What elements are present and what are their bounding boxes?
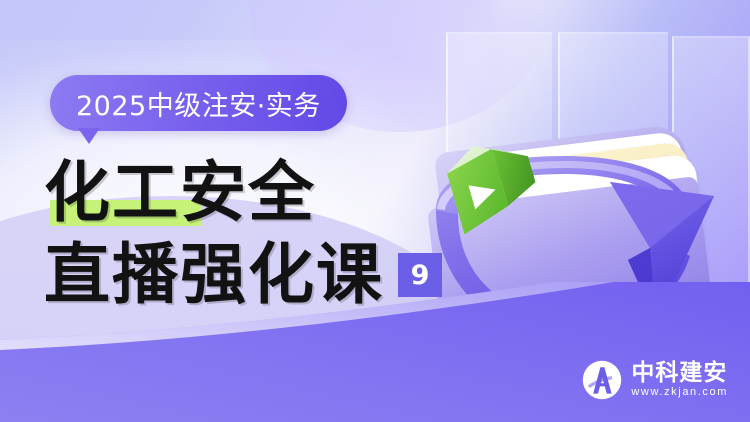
headline-line-1: 化工安全 (44, 152, 474, 234)
course-subject-label: 2025中级注安·实务 (76, 84, 321, 123)
headline-line-2: 直播强化课 (44, 234, 384, 316)
brand-logo: 中科建安 www.zkjan.com (582, 360, 728, 400)
course-banner: 2025中级注安·实务 化工安全 直播强化课 9 中科建安 www.zkjan.… (0, 0, 750, 422)
course-subject-badge: 2025中级注安·实务 (50, 75, 347, 131)
brand-url: www.zkjan.com (631, 387, 728, 398)
episode-count-badge: 9 (398, 253, 442, 297)
brand-logo-mark-icon (582, 360, 622, 400)
headline-line-2-row: 直播强化课 9 (44, 234, 474, 316)
headline-line-1-row: 化工安全 (44, 152, 474, 234)
brand-name: 中科建安 (631, 362, 728, 385)
course-subject-badge-tail (78, 128, 100, 144)
headline-block: 化工安全 直播强化课 9 (44, 152, 474, 316)
brand-logo-text: 中科建安 www.zkjan.com (631, 362, 728, 398)
